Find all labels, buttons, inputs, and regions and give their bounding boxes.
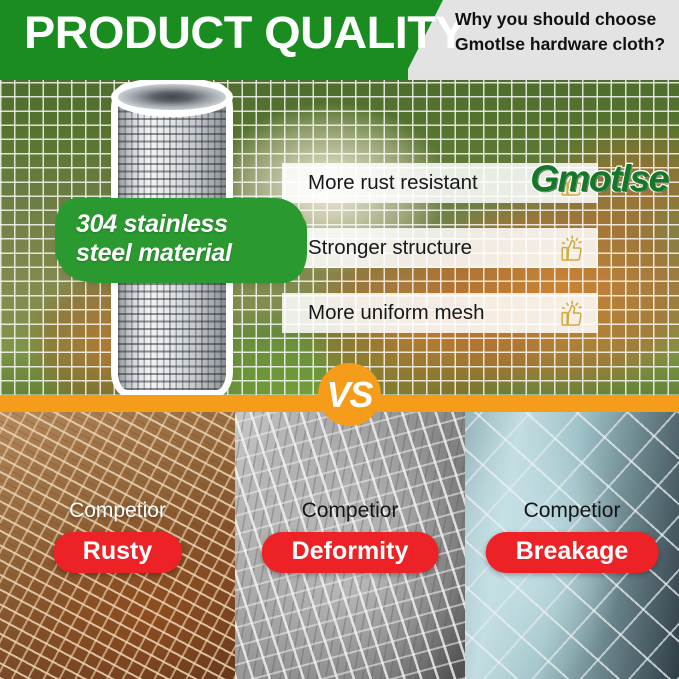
competitor-panel-breakage: Competior Breakage [465, 412, 679, 679]
thumbs-up-icon [544, 293, 598, 333]
feature-label: More uniform mesh [282, 293, 544, 333]
page-title: PRODUCT QUALITY [24, 6, 466, 60]
feature-label: Stronger structure [282, 228, 544, 268]
product-quality-infographic: 304 stainless steel material More rust r… [0, 0, 679, 679]
competitor-comparison-section: Competior Rusty Competior Deformity Comp… [0, 412, 679, 679]
competitor-defect-label: Deformity [292, 537, 409, 565]
competitor-caption: Competior [465, 498, 679, 524]
brand-logo: Gmotlse [526, 156, 672, 202]
competitor-defect-badge: Deformity [262, 532, 439, 573]
material-badge-line2: steel material [76, 239, 288, 268]
competitor-caption: Competior [235, 498, 465, 524]
feature-label: More rust resistant [282, 163, 544, 203]
competitor-panel-rusty: Competior Rusty [0, 412, 235, 679]
thumbs-up-icon [544, 228, 598, 268]
competitor-defect-label: Breakage [516, 537, 629, 565]
mesh-roll-top-opening [118, 84, 226, 110]
vs-badge: VS [318, 363, 381, 426]
feature-row-stronger-structure: Stronger structure [282, 228, 598, 268]
header-question: Why you should choose Gmotlse hardware c… [455, 7, 677, 57]
material-badge-line1: 304 stainless [76, 210, 288, 239]
material-badge: 304 stainless steel material [62, 202, 300, 278]
header-question-line2: Gmotlse hardware cloth? [455, 32, 677, 57]
brand-logo-text: Gmotlse [530, 158, 668, 200]
vs-badge-label: VS [326, 376, 372, 414]
header-banner: PRODUCT QUALITY Why you should choose Gm… [0, 0, 679, 80]
competitor-defect-badge: Breakage [486, 532, 659, 573]
competitor-defect-label: Rusty [83, 537, 152, 565]
header-question-line1: Why you should choose [455, 7, 677, 32]
competitor-defect-badge: Rusty [53, 532, 182, 573]
competitor-caption: Competior [0, 498, 235, 524]
feature-row-uniform-mesh: More uniform mesh [282, 293, 598, 333]
top-product-section: 304 stainless steel material More rust r… [0, 68, 679, 410]
competitor-panel-deformity: Competior Deformity [235, 412, 465, 679]
